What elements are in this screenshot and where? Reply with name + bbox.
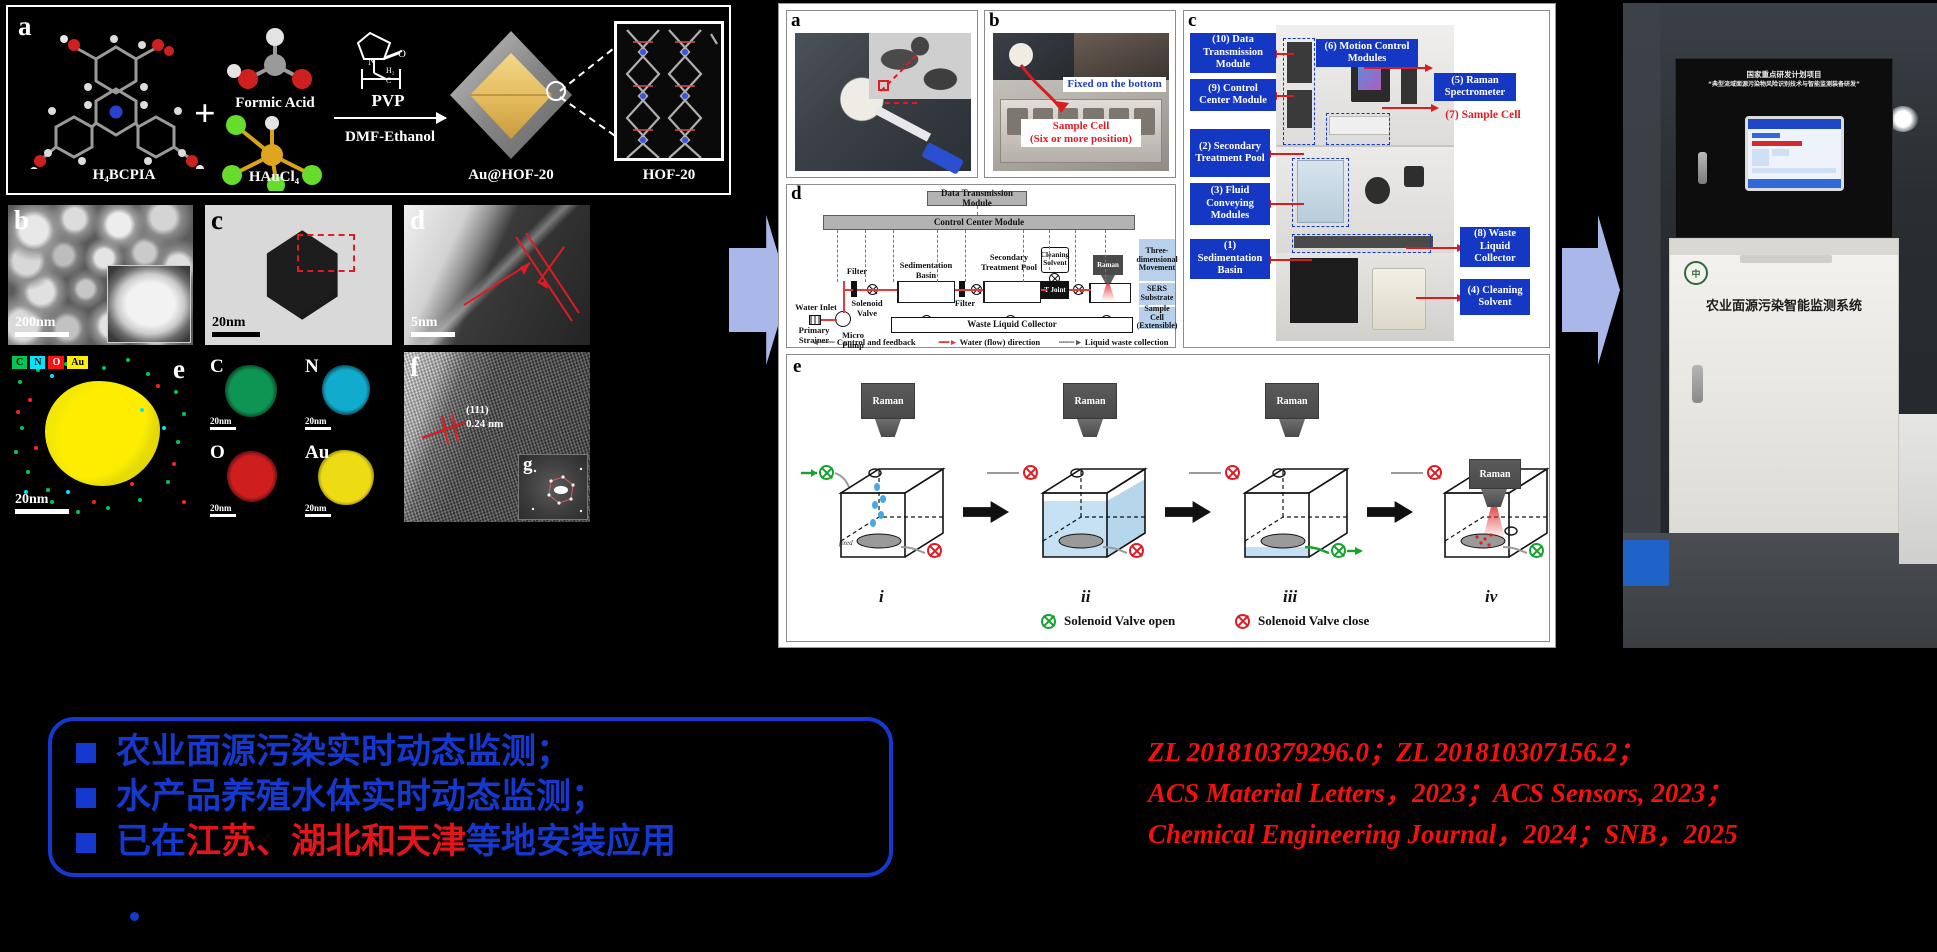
panel-d-scalebar: 5nm [411,316,455,337]
cell-arrow [993,33,1169,171]
mid-panel-d-flow-diagram: d Data Transmission Module Control Cente… [786,184,1176,348]
fd-legend-water: ━━► Water (flow) direction [939,337,1040,348]
panel-d-hrtem: d 5nm [404,205,590,345]
fd-micro-pump-icon [835,311,851,327]
step-iii-lens [1279,419,1305,437]
instrument-cabinet-body: 中 农业面源污染智能监测系统 [1669,238,1899,538]
panel-e-eds-composite: C N O Au e 20nm [8,352,193,522]
formic-acid-molecule-icon [220,25,330,95]
fd-sedimentation-basin-icon [897,281,955,303]
eds-chip-au: Au [67,356,88,369]
step-ii-roman: ii [1081,587,1090,607]
pvp-structure-icon: O N H₂ C [338,19,443,91]
fd-raman-icon: Raman [1093,255,1123,275]
adjacent-equipment [1899,414,1937,564]
reaction-arrow [334,117,446,119]
panel-g-letter: g [523,455,533,474]
fd-secondary-pool-icon [983,281,1041,303]
cabinet-top-trim [1670,239,1898,255]
cabinet-product-label: 农业面源污染智能监测系统 [1670,295,1898,314]
sers-substrate-photo [795,33,971,171]
module-9-label: (9) Control Center Module [1190,79,1276,111]
step-i-lens [875,419,901,437]
h4bcpia-label: H₄BCPIA [24,167,224,184]
step-ii-lens [1077,419,1103,437]
sample-cell-photo: Fixed on the bottom Sample Cell (Six or … [993,33,1169,171]
panel-c-letter: c [211,207,223,234]
fd-sedimentation-basin-label: Sedimentation Basin [891,261,961,280]
poster-canvas: a [0,0,1937,952]
module-7-label: (7) Sample Cell [1438,109,1528,123]
dmf-ethanol-label: DMF-Ethanol [320,129,460,146]
hmi-touchscreen-bezel[interactable] [1745,116,1844,191]
eds-map-o-label: O [210,442,225,464]
au-hof-20-label: Au@HOF-20 [436,167,586,184]
fd-filter-1-label: Filter [839,267,875,277]
eds-map-o: O 20nm [205,438,297,522]
panel-b-scalebar: 200nm [15,316,69,337]
mid-panel-e-workflow: e Raman [786,354,1550,642]
panel-b-letter: b [14,207,29,234]
fd-legend-waste: ┄┄┄► Liquid waste collection [1059,337,1168,348]
project-header-line1: 国家重点研发计划项目 [1676,69,1892,80]
door-handle-lower[interactable] [1692,365,1703,403]
mid-panel-c: c [1183,10,1550,348]
module-10-label: (10) Data Transmission Module [1190,33,1276,73]
bullet-marker [76,788,96,808]
formic-acid-label: Formic Acid [210,95,340,112]
bullet-text-2: 水产品养殖水体实时动态监测； [116,780,606,815]
stray-bullet-dot [130,912,139,921]
connector-arrow-right [1562,215,1620,365]
eds-chip-o: O [48,356,64,369]
mid-panel-d-letter: d [791,184,802,203]
bullet-marker [76,743,96,763]
door-handle-upper[interactable] [1698,152,1707,184]
bullet-text-1: 农业面源污染实时动态监测； [116,735,571,770]
plane-index-label: (111) [466,404,503,418]
bullet-text-3: 已在江苏、湖北和天津等地安装应用 [116,825,676,860]
panel-d-letter: d [410,207,425,234]
mid-panel-e-letter: e [793,357,801,376]
mid-panel-b-letter: b [989,11,1000,30]
bullet-item-3: 已在江苏、湖北和天津等地安装应用 [76,825,676,860]
module-1-basin-hardware [1290,258,1358,323]
blue-crate [1623,540,1669,586]
cabinet-seam [1740,255,1832,263]
step-i-raman-label: Raman [861,383,915,419]
panel-c-scalebar: 20nm [212,316,260,337]
fd-callout-sers-substrate: SERS Substrate [1139,283,1175,305]
workflow-legend-open: Solenoid Valve open [1041,613,1175,629]
eds-map-n-label: N [305,356,319,378]
mid-panel-a: a [786,10,978,178]
step-i-fixed-note: fixed [839,539,853,547]
step-iii-drain [1301,531,1365,561]
svg-text:H₂: H₂ [386,66,395,75]
hof-20-framework-panel [614,21,724,161]
eds-legend-chips: C N O Au [12,356,88,369]
bullet-item-1: 农业面源污染实时动态监测； [76,735,571,770]
institution-logo: 中 [1684,261,1708,285]
step-i-roman: i [879,587,884,607]
module-8-label: (8) Waste Liquid Collector [1460,227,1530,267]
workflow-arrow-1 [963,501,1009,523]
step-ii-raman-label: Raman [1063,383,1117,419]
module-3-label: (3) Fluid Conveying Modules [1190,183,1270,225]
step-ii-cell [1037,453,1167,583]
module-4-solvent-jug [1372,268,1425,330]
reference-line-1: ZL 201810379296.0；ZL 201810307156.2； [1148,732,1908,773]
step-iii-roman: iii [1283,587,1297,607]
panel-f-letter: f [410,354,419,381]
panel-a-letter: a [18,13,32,40]
bullet-3-prefix: 已在 [116,822,186,862]
panel-e-scalebar: 20nm [15,493,69,514]
step-iv-roman: iv [1485,587,1497,607]
eds-map-n: N 20nm [300,352,392,435]
eds-map-c: C 20nm [205,352,297,435]
mid-panel-b: b Fixed on the bottom [984,10,1176,178]
bullet-marker [76,833,96,853]
svg-text:O: O [398,48,406,60]
project-header-line2: “典型流域面源污染物风险识别技术与智能监测装备研发” [1676,80,1892,89]
module-6-label: (6) Motion Control Modules [1316,39,1418,67]
reference-line-3: Chemical Engineering Journal，2024；SNB，20… [1148,814,1908,855]
instrument-upper-panel: 国家重点研发计划项目 “典型流域面源污染物风险识别技术与智能监测装备研发” [1675,58,1893,238]
characterization-block: a [0,0,737,672]
step-iii-cell [1239,453,1369,583]
svg-text:C: C [386,76,391,85]
mid-panel-a-letter: a [791,11,801,30]
fd-raman-lens [1101,275,1115,283]
sample-cell-label: Sample Cell (Six or more position) [1021,119,1141,147]
references-block: ZL 201810379296.0；ZL 201810307156.2； ACS… [1148,732,1908,855]
workflow-arrow-3 [1367,501,1413,523]
eds-chip-c: C [12,356,27,369]
lattice-plane-labels: (111) 0.24 nm [466,404,503,432]
workflow-legend-close: Solenoid Valve close [1235,613,1369,629]
fd-control-center-module: Control Center Module [823,215,1135,230]
panel-e-letter: e [173,356,185,383]
fd-filter-2-label: Filter [949,299,981,309]
fd-solenoid-valve-label: Solenoid Valve [845,299,889,318]
eds-map-c-label: C [210,356,224,378]
panel-c-tem: c 20nm [205,205,392,345]
impeller-hardware [1365,177,1390,204]
deployed-instrument-photo: 国家重点研发计划项目 “典型流域面源污染物风险识别技术与智能监测装备研发” [1623,3,1937,648]
panel-b-sem: b 200nm [8,205,193,345]
bullet-item-2: 水产品养殖水体实时动态监测； [76,780,606,815]
hmi-screen[interactable] [1748,119,1841,188]
fd-callout-sample-cell: Sample Cell (Extensible) [1139,307,1175,329]
fixed-bottom-label: Fixed on the bottom [1063,77,1165,92]
reference-line-2: ACS Material Letters，2023；ACS Sensors, 2… [1148,773,1908,814]
floor [1623,533,1937,648]
fd-secondary-pool-label: Secondary Treatment Pool [977,253,1041,272]
plane-spacing-label: 0.24 nm [466,418,503,432]
panel-a-synthesis: a [6,5,731,195]
pvp-label: PVP [338,91,438,111]
workflow-arrow-2 [1165,501,1211,523]
cabinet-interior-photo [1276,25,1454,341]
svg-text:N: N [368,56,376,68]
eds-chip-n: N [30,356,45,369]
hof-20-label: HOF-20 [604,167,734,184]
fd-primary-strainer-icon [809,315,821,325]
fd-water-inlet-label: Water Inlet [793,303,839,313]
highlights-box: 农业面源污染实时动态监测； 水产品养殖水体实时动态监测； 已在江苏、湖北和天津等… [48,717,893,877]
fd-callout-3d-movement: Three-dimensional Movement [1139,239,1175,281]
bullet-3-suffix: 等地安装应用 [466,822,676,862]
sem-inset-image [107,265,191,343]
fd-waste-collector: Waste Liquid Collector [891,317,1133,333]
step-iv-raman-label: Raman [1469,459,1521,489]
system-block: a b [778,3,1556,648]
module-4-label: (4) Cleaning Solvent [1460,279,1530,315]
panel-f-hrtem-lattice: f (111) 0.24 nm g [404,352,590,522]
eds-map-au-label: Au [305,442,329,464]
fd-data-transmission-module: Data Transmission Module [927,191,1027,206]
module-1-label: (1) Sedimentation Basin [1190,239,1270,279]
fd-legend-control: ◄┄┄┄ Control and feedback [811,337,916,348]
eds-map-au: Au 20nm [300,438,392,522]
panel-g-fft-inset: g [518,454,588,520]
bullet-3-highlight: 江苏、湖北和天津 [186,822,466,862]
step-i-inlet-valve [819,465,834,480]
fd-cleaning-solvent-label: Cleaning Solvent [1039,251,1071,268]
step-iii-raman-label: Raman [1265,383,1319,419]
module-2-label: (2) Secondary Treatment Pool [1190,129,1270,177]
mid-panel-c-letter: c [1188,11,1196,30]
module-5-label: (5) Raman Spectrometer [1434,73,1516,101]
tem-roi-box [297,234,355,272]
haucl4-label: HAuCl₄ [204,169,344,186]
